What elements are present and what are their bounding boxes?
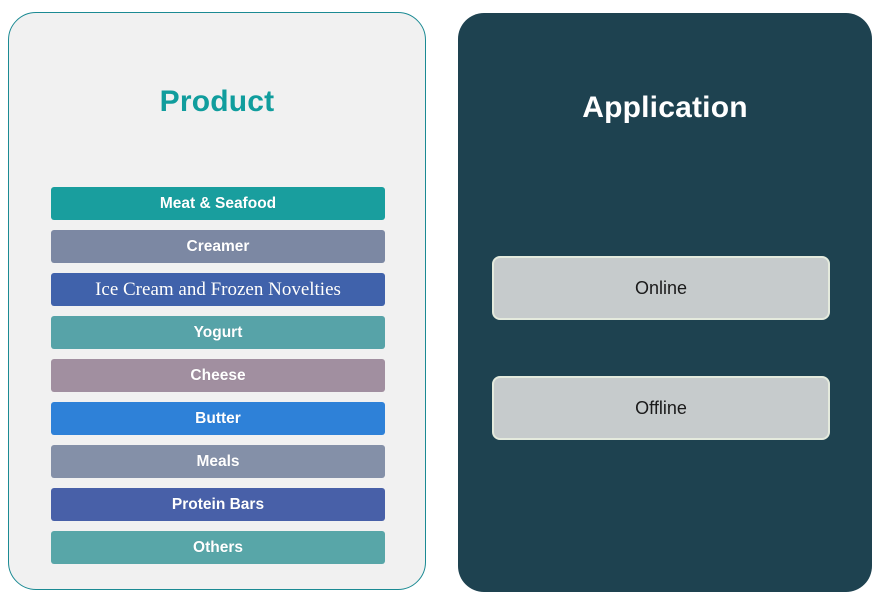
product-item-others[interactable]: Others xyxy=(51,531,385,564)
product-item-yogurt[interactable]: Yogurt xyxy=(51,316,385,349)
application-item-online[interactable]: Online xyxy=(492,256,830,320)
product-item-label: Creamer xyxy=(187,238,250,256)
product-panel: Product Meat & Seafood Creamer Ice Cream… xyxy=(8,12,426,590)
product-item-label: Ice Cream and Frozen Novelties xyxy=(95,279,341,301)
product-item-meat-seafood[interactable]: Meat & Seafood xyxy=(51,187,385,220)
product-item-meals[interactable]: Meals xyxy=(51,445,385,478)
product-item-label: Cheese xyxy=(190,367,245,385)
product-item-cheese[interactable]: Cheese xyxy=(51,359,385,392)
product-item-label: Others xyxy=(193,539,243,557)
product-item-label: Meat & Seafood xyxy=(160,195,276,213)
application-panel: Application Online Offline xyxy=(458,13,872,592)
product-item-label: Butter xyxy=(195,410,241,428)
application-panel-title: Application xyxy=(458,91,872,125)
product-item-label: Yogurt xyxy=(194,324,243,342)
product-item-label: Meals xyxy=(196,453,239,471)
product-item-creamer[interactable]: Creamer xyxy=(51,230,385,263)
application-category-list: Online Offline xyxy=(492,256,830,496)
application-item-offline[interactable]: Offline xyxy=(492,376,830,440)
product-category-list: Meat & Seafood Creamer Ice Cream and Fro… xyxy=(51,187,385,574)
application-item-label: Offline xyxy=(635,398,687,419)
product-panel-title: Product xyxy=(9,85,425,119)
application-item-label: Online xyxy=(635,278,687,299)
product-item-label: Protein Bars xyxy=(172,496,264,514)
product-item-butter[interactable]: Butter xyxy=(51,402,385,435)
product-item-protein-bars[interactable]: Protein Bars xyxy=(51,488,385,521)
product-item-ice-cream-and-frozen-novelties[interactable]: Ice Cream and Frozen Novelties xyxy=(51,273,385,306)
